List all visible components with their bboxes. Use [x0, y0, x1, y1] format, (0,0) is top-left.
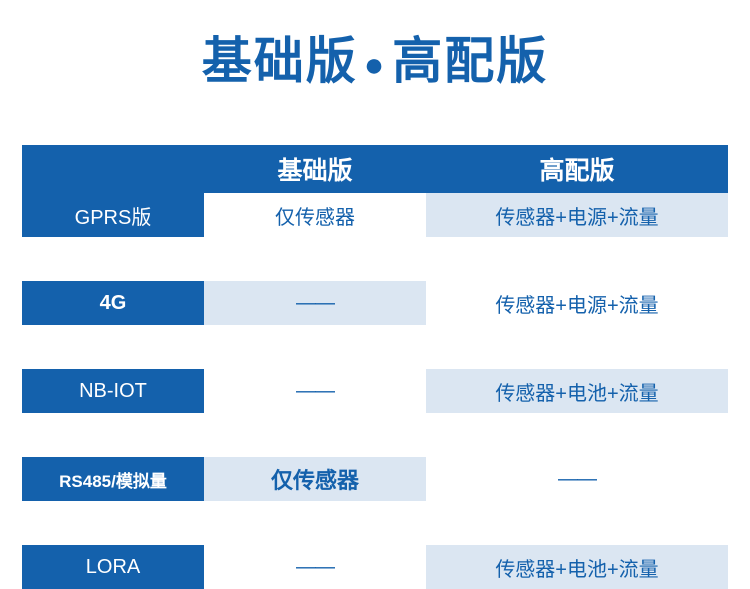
row-separator — [22, 325, 728, 369]
row-separator-cell-b — [204, 501, 426, 545]
row-separator-cell-c — [426, 501, 728, 545]
page-title-right: 高配版 — [392, 33, 548, 89]
row-label-gprs: GPRS版 — [22, 193, 204, 237]
table-header-corner — [22, 145, 204, 193]
table-row: NB-IOT —— 传感器+电池+流量 — [22, 369, 728, 413]
row-basic-nbiot: —— — [204, 369, 426, 413]
row-label-nbiot: NB-IOT — [22, 369, 204, 413]
row-basic-gprs: 仅传感器 — [204, 193, 426, 237]
table-row: LORA —— 传感器+电池+流量 — [22, 545, 728, 589]
row-separator-cell-a — [22, 237, 204, 281]
row-separator-cell-c — [426, 325, 728, 369]
page-root: 基础版●高配版 基础版 高配版 GPRS版 仅传感器 传感器+电源+流量 — [0, 0, 750, 447]
row-separator-cell-a — [22, 325, 204, 369]
row-separator-cell-c — [426, 413, 728, 457]
table-header-premium: 高配版 — [426, 145, 728, 193]
table-header-basic: 基础版 — [204, 145, 426, 193]
table-row: RS485/模拟量 仅传感器 —— — [22, 457, 728, 501]
row-premium-nbiot: 传感器+电池+流量 — [426, 369, 728, 413]
page-title-left: 基础版 — [202, 33, 358, 89]
row-premium-rs485: —— — [426, 457, 728, 501]
row-separator-cell-b — [204, 237, 426, 281]
row-separator — [22, 237, 728, 281]
table-row: GPRS版 仅传感器 传感器+电源+流量 — [22, 193, 728, 237]
table-row: 4G —— 传感器+电源+流量 — [22, 281, 728, 325]
bullet-separator-icon: ● — [358, 46, 393, 84]
row-separator-cell-b — [204, 325, 426, 369]
row-separator — [22, 413, 728, 457]
row-separator — [22, 501, 728, 545]
page-title: 基础版●高配版 — [0, 30, 750, 96]
row-basic-4g: —— — [204, 281, 426, 325]
row-label-lora: LORA — [22, 545, 204, 589]
row-separator-cell-b — [204, 413, 426, 457]
row-basic-lora: —— — [204, 545, 426, 589]
row-premium-4g: 传感器+电源+流量 — [426, 281, 728, 325]
row-label-rs485: RS485/模拟量 — [22, 457, 204, 501]
row-premium-gprs: 传感器+电源+流量 — [426, 193, 728, 237]
row-separator-cell-a — [22, 501, 204, 545]
row-separator-cell-c — [426, 237, 728, 281]
table-header-row: 基础版 高配版 — [22, 145, 728, 193]
row-separator-cell-a — [22, 413, 204, 457]
row-basic-rs485: 仅传感器 — [204, 457, 426, 501]
comparison-table: 基础版 高配版 GPRS版 仅传感器 传感器+电源+流量 4G —— 传感器+电… — [22, 145, 728, 589]
row-premium-lora: 传感器+电池+流量 — [426, 545, 728, 589]
row-label-4g: 4G — [22, 281, 204, 325]
